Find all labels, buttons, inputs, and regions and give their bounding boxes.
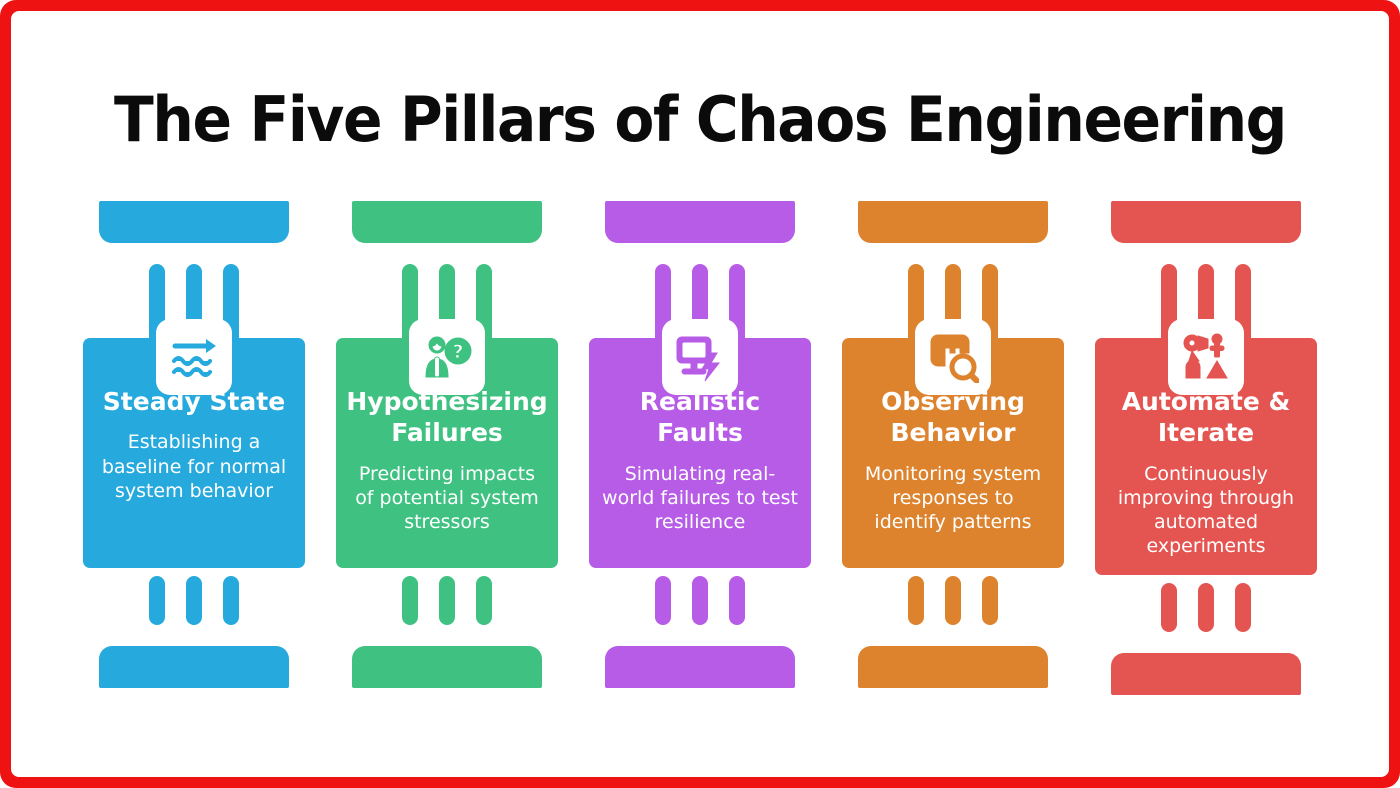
shaft-flute [1198,583,1214,632]
pillar-capital [605,201,795,243]
shaft-flute [149,576,165,625]
shaft-flute [692,576,708,625]
shaft-flute [655,576,671,625]
pillar-automate-iterate[interactable]: Automate & Iterate Continuously improvin… [1095,201,1317,695]
pillar-shaft-bottom [908,576,998,625]
pillar-capital [858,201,1048,243]
pillar-realistic-faults[interactable]: Realistic Faults Simulating real-world f… [589,201,811,688]
infographic-canvas: The Five Pillars of Chaos Engineering [11,11,1389,777]
pillar-heading: Realistic Faults [602,386,798,449]
shaft-flute [223,576,239,625]
pillars-row: Steady State Establishing a baseline for… [11,201,1389,695]
shaft-flute [1161,583,1177,632]
pillar-shaft-bottom [655,576,745,625]
pillar-base [99,646,289,688]
shaft-flute [402,576,418,625]
pillar-capital [1111,201,1301,243]
pillar-hypothesizing-failures[interactable]: ? Hypothesizing Failures Predicting impa… [336,201,558,688]
svg-text:?: ? [452,341,463,363]
shaft-flute [908,576,924,625]
shaft-flute [476,576,492,625]
pillar-base [352,646,542,688]
pillar-description: Establishing a baseline for normal syste… [96,430,292,503]
pillar-description: Simulating real-world failures to test r… [602,462,798,535]
robot-arm-tool-icon [1168,319,1244,395]
pillar-heading: Observing Behavior [855,386,1051,449]
shaft-flute [945,576,961,625]
pillar-heading: Hypothesizing Failures [346,386,547,449]
shaft-flute [1235,583,1251,632]
person-question-mark-icon: ? [409,319,485,395]
monitor-lightning-bolt-icon [662,319,738,395]
server-magnifier-icon [915,319,991,395]
pillar-heading: Automate & Iterate [1108,386,1304,449]
pillar-capital [99,201,289,243]
pillar-shaft-bottom [402,576,492,625]
pillar-steady-state[interactable]: Steady State Establishing a baseline for… [83,201,305,688]
pillar-observing-behavior[interactable]: Observing Behavior Monitoring system res… [842,201,1064,688]
shaft-flute [186,576,202,625]
shaft-flute [729,576,745,625]
pillar-base [858,646,1048,688]
pillar-description: Continuously improving through automated… [1108,462,1304,559]
pillar-base [605,646,795,688]
pillar-capital [352,201,542,243]
pillar-description: Monitoring system responses to identify … [855,462,1051,535]
pillar-shaft-bottom [149,576,239,625]
pillar-shaft-bottom [1161,583,1251,632]
flow-arrow-waves-icon [156,319,232,395]
shaft-flute [439,576,455,625]
pillar-description: Predicting impacts of potential system s… [349,462,545,535]
page-title: The Five Pillars of Chaos Engineering [52,83,1347,156]
infographic-frame: The Five Pillars of Chaos Engineering [0,0,1400,788]
pillar-base [1111,653,1301,695]
shaft-flute [982,576,998,625]
